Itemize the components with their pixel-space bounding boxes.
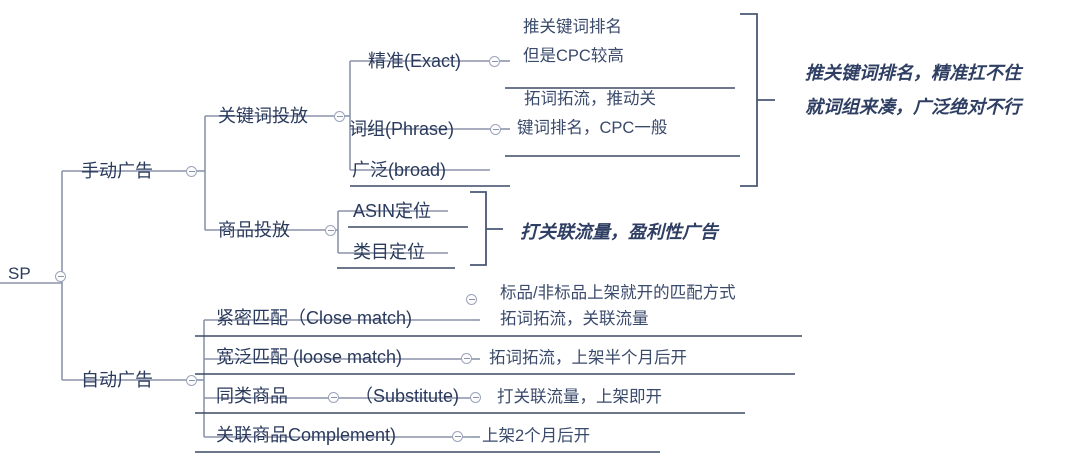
note-exact-line2: 但是CPC较高	[523, 46, 624, 68]
collapse-toggle-icon-manual[interactable]	[186, 166, 197, 177]
collapse-toggle-icon-exact[interactable]	[489, 56, 500, 67]
collapse-toggle-icon-product-targeting[interactable]	[325, 225, 336, 236]
branch-manual-ads[interactable]: 手动广告	[81, 162, 153, 180]
note-substitute: 打关联流量，上架即开	[497, 387, 662, 409]
node-substitute-english[interactable]: （Substitute)	[355, 387, 459, 405]
node-product-targeting[interactable]: 商品投放	[218, 221, 290, 239]
note-complement: 上架2个月后开	[482, 426, 590, 448]
node-match-broad[interactable]: 广泛(broad)	[352, 161, 446, 179]
node-category-targeting[interactable]: 类目定位	[353, 243, 425, 261]
node-match-exact[interactable]: 精准(Exact)	[368, 52, 461, 70]
annotation-keyword-line2: 就词组来凑，广泛绝对不行	[805, 95, 1021, 120]
node-asin-targeting[interactable]: ASIN定位	[353, 202, 431, 220]
note-phrase-line1: 拓词拓流，推动关	[524, 89, 656, 111]
collapse-toggle-icon-root[interactable]	[55, 271, 66, 282]
collapse-toggle-icon-substitute[interactable]	[328, 392, 339, 403]
note-exact-line1: 推关键词排名	[523, 17, 622, 39]
node-complement[interactable]: 关联商品Complement)	[216, 426, 396, 444]
node-keyword-targeting[interactable]: 关键词投放	[218, 107, 308, 125]
node-loose-match[interactable]: 宽泛匹配 (loose match)	[216, 348, 402, 366]
annotation-product-targeting: 打关联流量，盈利性广告	[520, 220, 718, 245]
annotation-keyword-line1: 推关键词排名，精准扛不住	[805, 61, 1021, 86]
note-loose-match: 拓词拓流，上架半个月后开	[489, 348, 687, 370]
collapse-toggle-icon-close-match[interactable]	[466, 294, 477, 305]
mindmap-canvas: SP 手动广告 自动广告 关键词投放 商品投放 精准(Exact) 词组(Phr…	[0, 0, 1066, 457]
node-match-phrase[interactable]: 词组(Phrase)	[349, 120, 454, 138]
collapse-toggle-icon-substitute-note[interactable]	[470, 392, 481, 403]
collapse-toggle-icon-auto[interactable]	[186, 375, 197, 386]
collapse-toggle-icon-complement[interactable]	[452, 431, 463, 442]
note-close-match-line2: 拓词拓流，关联流量	[500, 309, 649, 331]
node-close-match[interactable]: 紧密匹配（Close match)	[216, 309, 412, 327]
collapse-toggle-icon-loose-match[interactable]	[461, 353, 472, 364]
note-phrase-line2: 键词排名，CPC一般	[517, 118, 667, 140]
root-node-sp[interactable]: SP	[8, 265, 31, 282]
node-substitute[interactable]: 同类商品	[216, 387, 288, 405]
collapse-toggle-icon-keyword-targeting[interactable]	[334, 111, 345, 122]
branch-auto-ads[interactable]: 自动广告	[81, 371, 153, 389]
note-close-match-line1: 标品/非标品上架就开的匹配方式	[500, 283, 736, 305]
collapse-toggle-icon-phrase[interactable]	[490, 124, 501, 135]
